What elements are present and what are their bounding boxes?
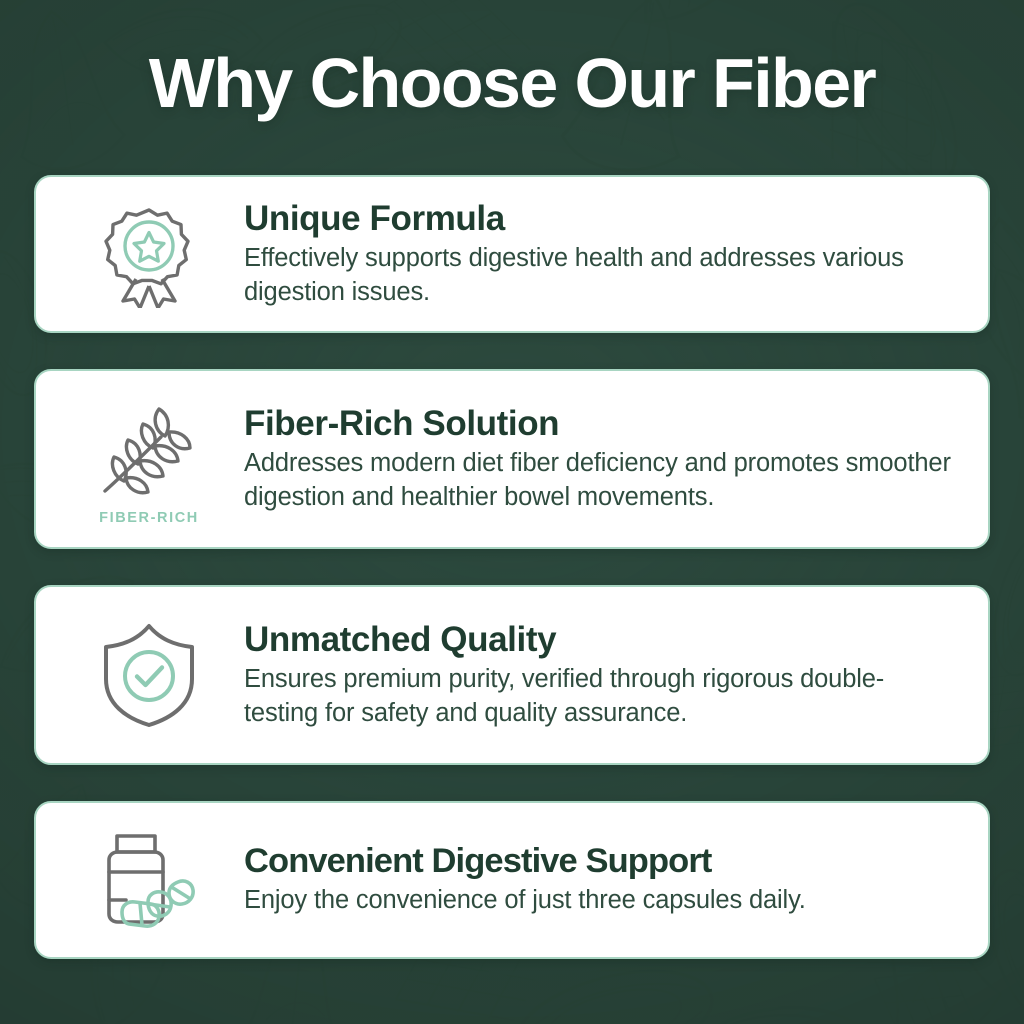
benefit-card-convenient-digestive-support[interactable]: Convenient Digestive Support Enjoy the c… (34, 801, 990, 959)
benefit-card-unique-formula[interactable]: Unique Formula Effectively supports dige… (34, 175, 990, 333)
benefit-card-fiber-rich-solution[interactable]: FIBER-RICH Fiber-Rich Solution Addresses… (34, 369, 990, 549)
card-title: Unmatched Quality (244, 620, 958, 659)
card-body: Addresses modern diet fiber deficiency a… (244, 447, 958, 514)
text-column: Fiber-Rich Solution Addresses modern die… (244, 404, 962, 515)
pill-bottle-icon (90, 824, 208, 936)
icon-column (54, 824, 244, 936)
card-title: Convenient Digestive Support (244, 842, 958, 881)
icon-caption: FIBER-RICH (99, 511, 199, 526)
benefit-card-unmatched-quality[interactable]: Unmatched Quality Ensures premium purity… (34, 585, 990, 765)
card-body: Ensures premium purity, verified through… (244, 663, 958, 730)
text-column: Unique Formula Effectively supports dige… (244, 199, 962, 310)
card-body: Effectively supports digestive health an… (244, 242, 958, 309)
award-badge-icon (90, 198, 208, 310)
card-title: Fiber-Rich Solution (244, 404, 958, 443)
shield-check-icon (90, 619, 208, 731)
icon-column (54, 619, 244, 731)
benefit-card-list: Unique Formula Effectively supports dige… (34, 175, 990, 959)
card-body: Enjoy the convenience of just three caps… (244, 884, 958, 918)
text-column: Unmatched Quality Ensures premium purity… (244, 620, 962, 731)
card-title: Unique Formula (244, 199, 958, 238)
wheat-sprig-icon (90, 393, 208, 505)
text-column: Convenient Digestive Support Enjoy the c… (244, 842, 962, 918)
page-root: Why Choose Our Fiber Unique Formula Effe… (0, 0, 1024, 1024)
icon-column: FIBER-RICH (54, 393, 244, 526)
page-title: Why Choose Our Fiber (34, 0, 990, 118)
icon-column (54, 198, 244, 310)
